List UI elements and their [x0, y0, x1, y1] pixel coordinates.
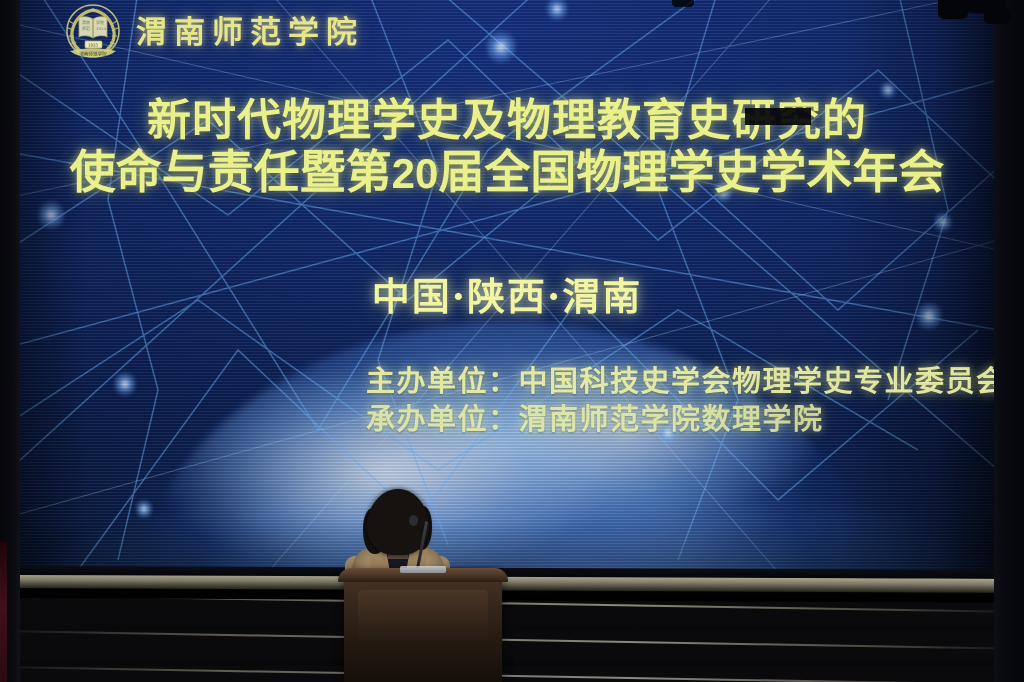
title-line2-before: 使命与责任暨第: [70, 145, 392, 199]
slide-title-block: 新时代物理学史及物理教育史研究的 使命与责任暨第20届全国物理学史学术年会: [18, 96, 996, 199]
slide-location-text: 中国·陕西·渭南: [18, 266, 996, 321]
led-backdrop-screen: 渭南师范 学院1923 1923 渭南师范学院 渭南师范学院 新时代物理学史及物…: [18, 0, 996, 572]
svg-text:师范: 师范: [82, 25, 90, 31]
conference-photo-scene: 渭南师范 学院1923 1923 渭南师范学院 渭南师范学院 新时代物理学史及物…: [0, 0, 1024, 682]
title-line2-after: 届全国物理学史学术年会: [438, 145, 944, 199]
slide-title-line-2: 使命与责任暨第20届全国物理学史学术年会: [18, 146, 996, 198]
svg-text:学院: 学院: [96, 19, 104, 25]
svg-text:渭南: 渭南: [82, 19, 90, 25]
university-logo-row: 渭南师范 学院1923 1923 渭南师范学院 渭南师范学院: [60, 2, 364, 64]
university-name-text: 渭南师范学院: [136, 18, 364, 49]
slide-content: 渭南师范 学院1923 1923 渭南师范学院 渭南师范学院 新时代物理学史及物…: [18, 0, 996, 572]
ceiling-mount-icon: [672, 0, 694, 7]
svg-text:1923: 1923: [96, 26, 107, 31]
lectern-papers: [400, 566, 446, 573]
black-redaction-bar: [745, 108, 811, 125]
svg-text:1923: 1923: [88, 43, 98, 48]
red-curtain-strip: [0, 542, 7, 682]
auditorium-right-wall: [994, 0, 1024, 682]
microphone-icon: [409, 515, 418, 526]
organizer-line-host: 主办单位：中国科技史学会物理学史专业委员会: [366, 362, 996, 400]
university-crest-emblem: 渭南师范 学院1923 1923 渭南师范学院: [60, 2, 126, 64]
svg-text:渭南师范学院: 渭南师范学院: [79, 51, 107, 58]
slide-title-line-1: 新时代物理学史及物理教育史研究的: [18, 96, 996, 146]
lectern-front-panel: [358, 590, 488, 640]
title-line2-number: 20: [392, 150, 439, 197]
organizer-line-undertaker: 承办单位：渭南师范学院数理学院: [366, 400, 996, 438]
slide-organizers-block: 主办单位：中国科技史学会物理学史专业委员会 承办单位：渭南师范学院数理学院: [366, 362, 996, 439]
ceiling-light-rig-icon: [984, 8, 1010, 24]
